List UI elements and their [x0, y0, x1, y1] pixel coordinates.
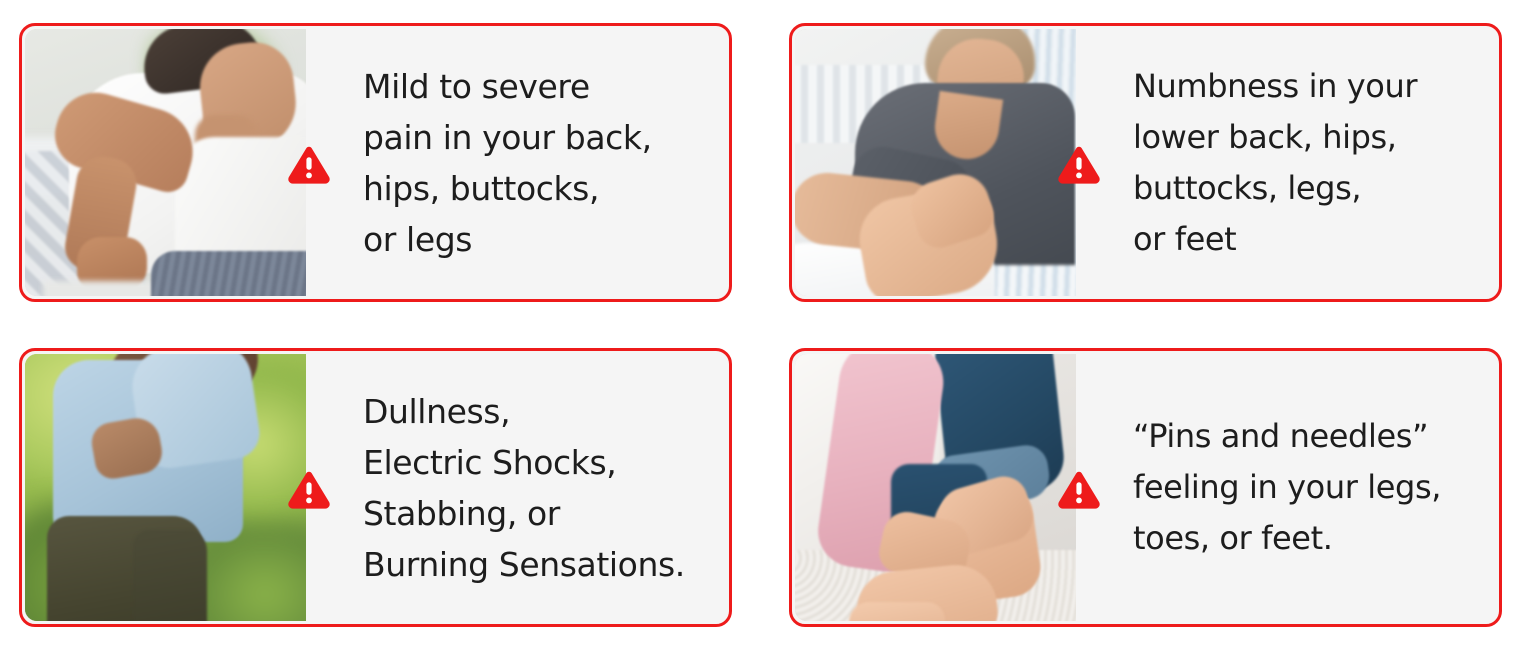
card-inner: Numbness in your lower back, hips, butto… — [795, 29, 1496, 296]
symptom-card-grid: Mild to severe pain in your back, hips, … — [0, 0, 1520, 650]
grid-cell-top-right: Numbness in your lower back, hips, butto… — [770, 0, 1520, 325]
card-caption: Dullness, Electric Shocks, Stabbing, or … — [363, 386, 685, 590]
grid-cell-bottom-left: Dullness, Electric Shocks, Stabbing, or … — [0, 325, 770, 650]
grid-cell-top-left: Mild to severe pain in your back, hips, … — [0, 0, 770, 325]
warning-triangle-icon — [1057, 470, 1101, 510]
card-caption: Numbness in your lower back, hips, butto… — [1133, 61, 1417, 265]
card-inner: “Pins and needles” feeling in your legs,… — [795, 354, 1496, 621]
symptom-card-pins-needles[interactable]: “Pins and needles” feeling in your legs,… — [789, 348, 1502, 627]
card-caption: Mild to severe pain in your back, hips, … — [363, 61, 652, 265]
photo-older-woman-holding-foot — [795, 29, 1076, 296]
caption-pane: Dullness, Electric Shocks, Stabbing, or … — [306, 354, 726, 621]
warning-triangle-icon — [287, 470, 331, 510]
caption-pane: “Pins and needles” feeling in your legs,… — [1076, 354, 1496, 621]
symptom-card-numbness[interactable]: Numbness in your lower back, hips, butto… — [789, 23, 1502, 302]
photo-man-holding-lower-back — [25, 29, 306, 296]
caption-pane: Numbness in your lower back, hips, butto… — [1076, 29, 1496, 296]
warning-triangle-icon — [287, 145, 331, 185]
card-inner: Mild to severe pain in your back, hips, … — [25, 29, 726, 296]
grid-cell-bottom-right: “Pins and needles” feeling in your legs,… — [770, 325, 1520, 650]
photo-man-outdoors-holding-back — [25, 354, 306, 621]
symptom-card-back-pain[interactable]: Mild to severe pain in your back, hips, … — [19, 23, 732, 302]
caption-pane: Mild to severe pain in your back, hips, … — [306, 29, 726, 296]
symptom-card-sensations[interactable]: Dullness, Electric Shocks, Stabbing, or … — [19, 348, 732, 627]
card-inner: Dullness, Electric Shocks, Stabbing, or … — [25, 354, 726, 621]
warning-triangle-icon — [1057, 145, 1101, 185]
photo-woman-holding-ankle-on-floor — [795, 354, 1076, 621]
card-caption: “Pins and needles” feeling in your legs,… — [1133, 411, 1441, 564]
